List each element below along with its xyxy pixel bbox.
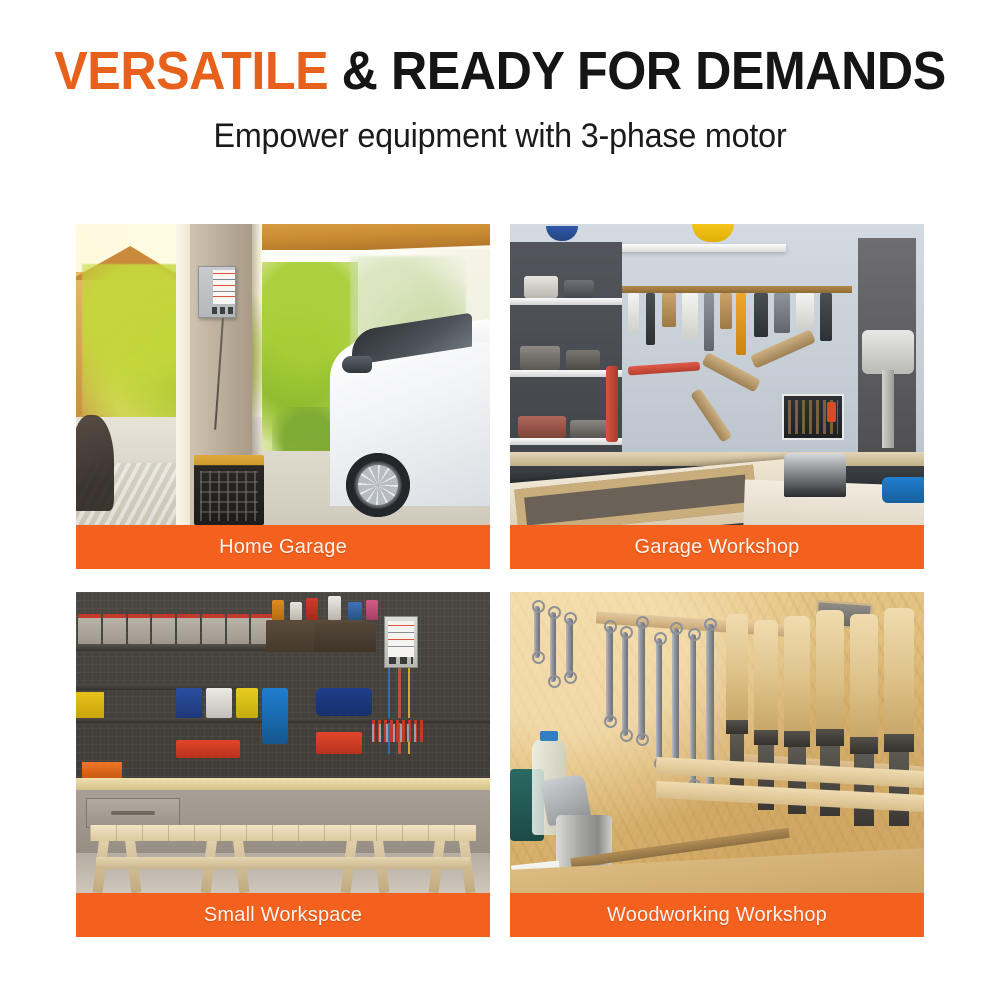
card-caption: Home Garage bbox=[76, 525, 490, 569]
red-tool-holder bbox=[176, 740, 240, 758]
hanging-tool-5 bbox=[704, 293, 714, 351]
drill-press-head bbox=[862, 330, 914, 374]
chisel-handle bbox=[754, 620, 778, 730]
dog-silhouette bbox=[76, 415, 114, 511]
chisel-handle bbox=[850, 614, 878, 737]
bottle-white bbox=[290, 602, 302, 620]
chisel-2 bbox=[754, 620, 778, 810]
promo-banner: VERSATILE & READY FOR DEMANDS Empower eq… bbox=[0, 0, 1000, 1000]
bottle-orange bbox=[272, 600, 284, 620]
door-frame-left bbox=[176, 224, 190, 525]
shop-heater bbox=[194, 455, 264, 525]
hanging-tool-9 bbox=[774, 293, 790, 333]
chisel-blade bbox=[889, 752, 909, 826]
storage-bin bbox=[227, 614, 250, 644]
pallet-worktable-top bbox=[90, 825, 476, 841]
photo-garage-workshop bbox=[510, 224, 924, 525]
red-pry-bar-vertical bbox=[606, 366, 618, 442]
hanging-tool-4 bbox=[682, 293, 698, 339]
chisel-ferrule bbox=[884, 734, 914, 751]
shelf-board-1 bbox=[510, 298, 622, 305]
pallet-lower-board bbox=[96, 857, 470, 869]
wrench-4 bbox=[656, 638, 662, 764]
car-side-mirror bbox=[342, 356, 372, 373]
shelf-item-helmet bbox=[524, 276, 558, 298]
tool-tote-small bbox=[314, 622, 376, 652]
shelf-item-jar bbox=[566, 350, 600, 370]
bottle-blue bbox=[348, 602, 362, 620]
chisel-ferrule bbox=[754, 730, 778, 745]
header: VERSATILE & READY FOR DEMANDS Empower eq… bbox=[0, 0, 1000, 156]
page-subtitle: Empower equipment with 3-phase motor bbox=[25, 117, 975, 156]
wrench-8 bbox=[550, 612, 556, 682]
blue-bench-press bbox=[262, 688, 288, 744]
plier-set bbox=[372, 724, 420, 742]
hanging-tool-8 bbox=[754, 293, 768, 337]
photo-woodworking-workshop bbox=[510, 592, 924, 893]
storage-bin-row bbox=[78, 614, 274, 644]
storage-bin bbox=[78, 614, 101, 644]
bench-vise bbox=[784, 453, 846, 497]
bit-organizer bbox=[782, 394, 844, 440]
use-case-card-garage-workshop[interactable]: Garage Workshop bbox=[510, 224, 924, 569]
base-cabinet bbox=[76, 790, 490, 856]
use-case-card-small-workspace[interactable]: Small Workspace bbox=[76, 592, 490, 937]
hanging-tool-2 bbox=[646, 293, 655, 345]
car-wheel bbox=[346, 453, 410, 517]
orange-bin bbox=[82, 762, 122, 778]
chisel-handle bbox=[816, 610, 844, 729]
wrench-10 bbox=[534, 606, 540, 658]
storage-bin bbox=[152, 614, 175, 644]
use-case-grid: Home Garage bbox=[76, 224, 924, 937]
photo-home-garage bbox=[76, 224, 490, 525]
wrench-1 bbox=[606, 626, 613, 722]
chisel-ferrule bbox=[816, 729, 844, 745]
use-case-card-woodworking-workshop[interactable]: Woodworking Workshop bbox=[510, 592, 924, 937]
shelf-item-box bbox=[564, 280, 594, 298]
card-caption: Small Workspace bbox=[76, 893, 490, 937]
heater-grille bbox=[200, 471, 258, 521]
card-caption: Garage Workshop bbox=[510, 525, 924, 569]
paint-can-blue bbox=[176, 688, 202, 718]
paint-can-white bbox=[206, 688, 232, 718]
yellow-bin bbox=[76, 692, 104, 718]
page-title: VERSATILE & READY FOR DEMANDS bbox=[35, 44, 965, 98]
chisel-handle bbox=[884, 608, 914, 734]
chisel-ferrule bbox=[850, 737, 878, 754]
shelf-item-grey bbox=[570, 420, 610, 438]
wrench-2 bbox=[622, 632, 628, 736]
storage-bin bbox=[128, 614, 151, 644]
headline-accent-text: VERSATILE bbox=[54, 41, 328, 101]
control-panel-terminals bbox=[389, 657, 413, 664]
bottle-cap bbox=[540, 731, 558, 741]
storage-bin bbox=[202, 614, 225, 644]
chisel-handle bbox=[726, 614, 748, 720]
cabinet-drawer bbox=[86, 798, 180, 828]
motor-control-box bbox=[198, 266, 236, 318]
card-caption: Woodworking Workshop bbox=[510, 893, 924, 937]
wrench-3 bbox=[638, 622, 645, 740]
control-box-label bbox=[213, 270, 235, 304]
hanging-tool-1 bbox=[628, 293, 639, 333]
red-tray-screwdrivers bbox=[316, 732, 362, 754]
storage-bin bbox=[177, 614, 200, 644]
motor-control-panel bbox=[384, 616, 418, 668]
blue-tool-bag bbox=[316, 688, 372, 716]
control-box-buttons bbox=[212, 307, 234, 314]
shelf-item-red bbox=[518, 416, 566, 438]
use-case-card-home-garage[interactable]: Home Garage bbox=[76, 224, 490, 569]
hanging-tool-7 bbox=[736, 293, 746, 355]
chisel-blade bbox=[854, 754, 873, 826]
bottle-cone bbox=[328, 596, 341, 620]
control-panel-label bbox=[388, 621, 414, 657]
hanging-tool-3 bbox=[662, 293, 676, 327]
bottle-red bbox=[306, 598, 318, 620]
hanging-tool-6 bbox=[720, 293, 732, 329]
headline-rest-text: & READY FOR DEMANDS bbox=[328, 41, 946, 101]
storage-bin bbox=[103, 614, 126, 644]
workbench-surface bbox=[76, 778, 490, 790]
chisel-4 bbox=[816, 610, 844, 816]
tool-hanging-rail bbox=[622, 286, 852, 293]
hanging-tool-10 bbox=[796, 293, 814, 329]
chisel-ferrule bbox=[784, 731, 810, 747]
wrench-9 bbox=[566, 618, 573, 678]
chisel-ferrule bbox=[726, 720, 748, 735]
wrench-5 bbox=[672, 628, 679, 768]
drill-press-post bbox=[882, 370, 894, 448]
chisel-handle bbox=[784, 616, 810, 731]
paint-can-yellow bbox=[236, 688, 258, 718]
tray-red-item bbox=[827, 402, 836, 422]
bottle-pink bbox=[366, 600, 378, 620]
blue-cloth bbox=[882, 477, 924, 503]
hanging-tool-11 bbox=[820, 293, 832, 341]
upper-shelf bbox=[76, 644, 274, 651]
workbench-top bbox=[510, 452, 924, 466]
photo-small-workspace bbox=[76, 592, 490, 893]
chisel-3 bbox=[784, 616, 810, 814]
shelf-item-can bbox=[520, 346, 560, 370]
